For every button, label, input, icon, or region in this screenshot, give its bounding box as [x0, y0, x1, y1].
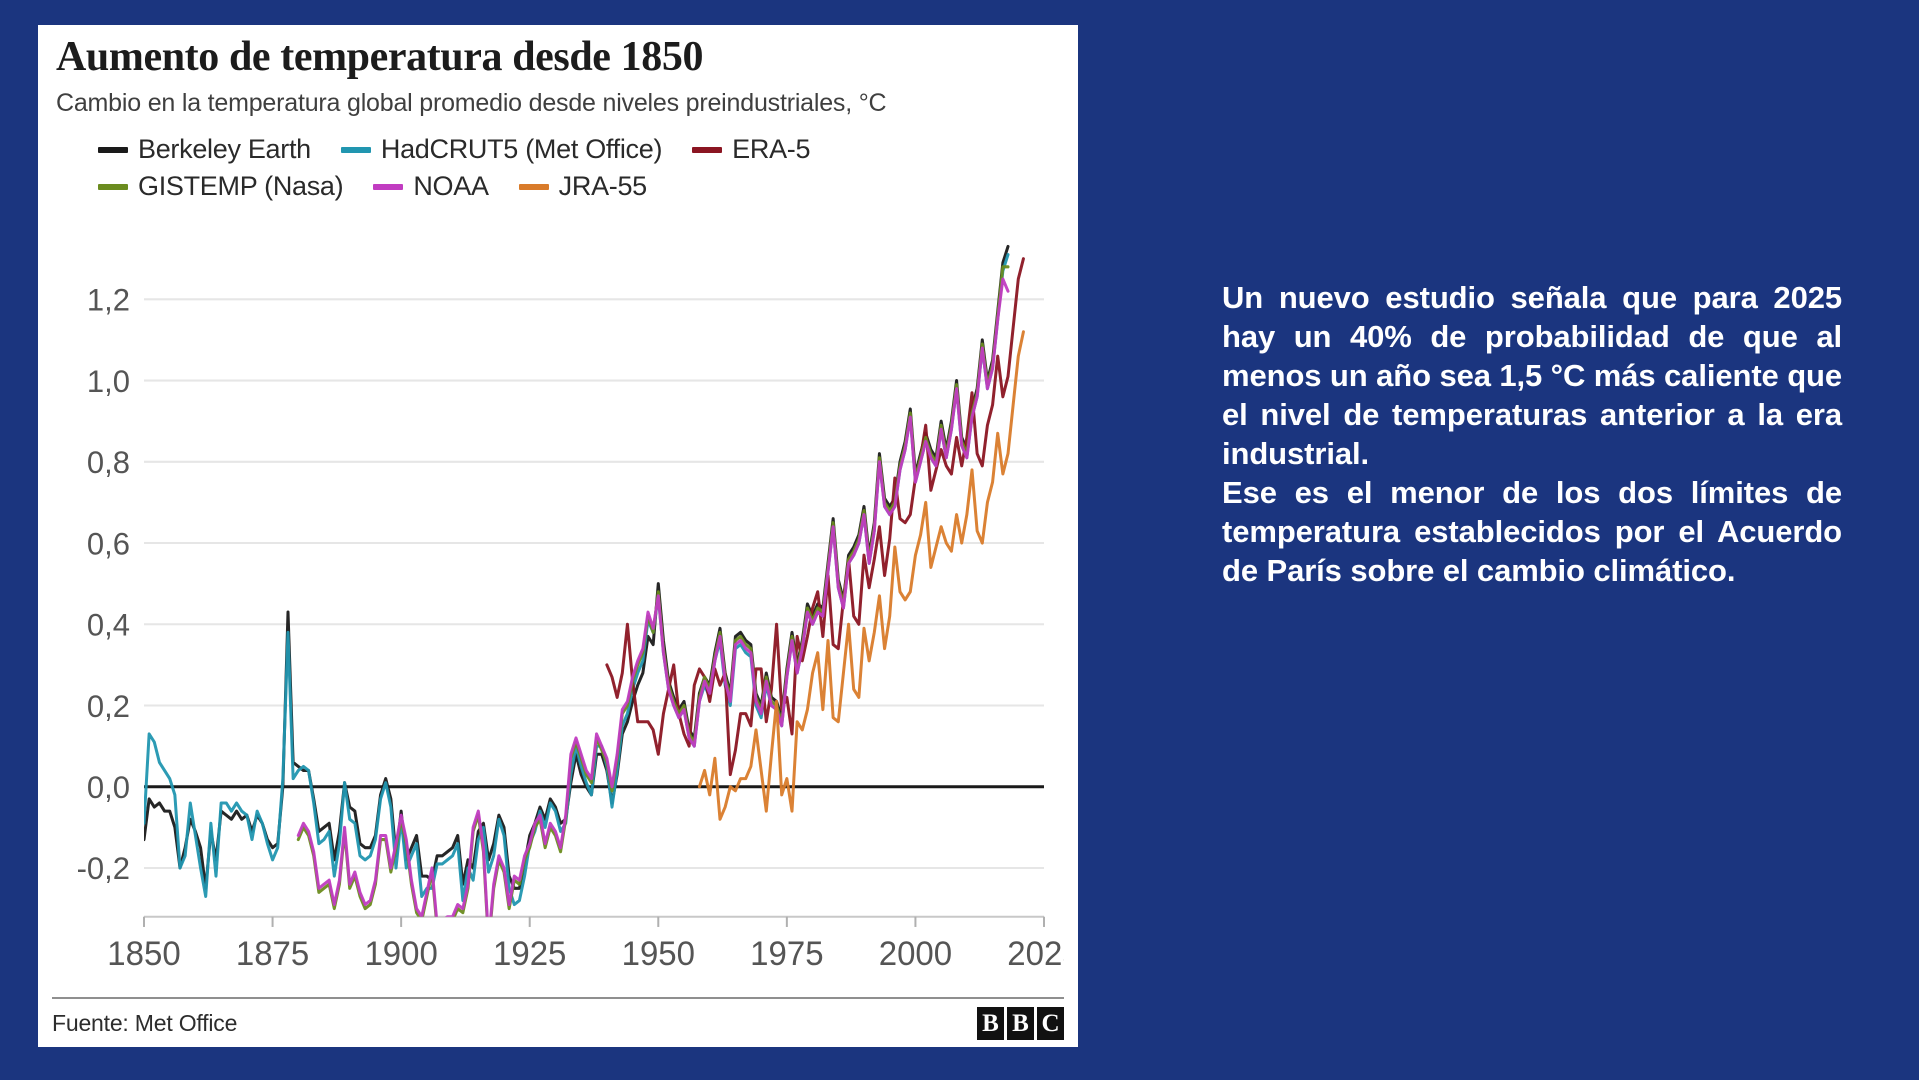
svg-text:1,2: 1,2	[87, 283, 130, 318]
legend-swatch-icon	[519, 184, 549, 190]
legend-label: JRA-55	[559, 171, 647, 202]
chart-footer: Fuente: Met Office B B C	[52, 997, 1064, 1047]
svg-text:1,0: 1,0	[87, 364, 130, 399]
legend-label: GISTEMP (Nasa)	[138, 171, 343, 202]
legend-item-hadcrut5[interactable]: HadCRUT5 (Met Office)	[341, 134, 662, 165]
legend-swatch-icon	[692, 147, 722, 153]
svg-text:1925: 1925	[493, 936, 566, 973]
legend-label: HadCRUT5 (Met Office)	[381, 134, 662, 165]
svg-text:2000: 2000	[879, 936, 952, 973]
legend-item-gistemp[interactable]: GISTEMP (Nasa)	[98, 171, 343, 202]
bbc-letter-1: B	[977, 1007, 1004, 1040]
svg-text:1975: 1975	[750, 936, 823, 973]
bbc-logo: B B C	[977, 1007, 1064, 1040]
temperature-line-chart: -0,20,00,20,40,60,81,01,2185018751900192…	[52, 218, 1064, 997]
legend-swatch-icon	[98, 147, 128, 153]
svg-text:0,2: 0,2	[87, 689, 130, 724]
svg-text:2025: 2025	[1007, 936, 1064, 973]
legend-label: ERA-5	[732, 134, 810, 165]
article-paragraph-2: Ese es el menor de los dos límites de te…	[1222, 473, 1842, 590]
svg-text:0,6: 0,6	[87, 526, 130, 561]
chart-plot-area: -0,20,00,20,40,60,81,01,2185018751900192…	[52, 218, 1064, 997]
chart-legend: Berkeley Earth HadCRUT5 (Met Office) ERA…	[52, 134, 1064, 208]
legend-swatch-icon	[373, 184, 403, 190]
svg-text:1900: 1900	[364, 936, 437, 973]
svg-text:0,4: 0,4	[87, 608, 130, 643]
chart-card: Aumento de temperatura desde 1850 Cambio…	[38, 25, 1078, 1047]
svg-text:1875: 1875	[236, 936, 309, 973]
chart-subtitle: Cambio en la temperatura global promedio…	[52, 89, 1064, 118]
legend-swatch-icon	[98, 184, 128, 190]
article-paragraph-1: Un nuevo estudio señala que para 2025 ha…	[1222, 278, 1842, 473]
legend-row-2: GISTEMP (Nasa) NOAA JRA-55	[98, 171, 1064, 202]
legend-row-1: Berkeley Earth HadCRUT5 (Met Office) ERA…	[98, 134, 1064, 165]
screen-root: Aumento de temperatura desde 1850 Cambio…	[0, 0, 1919, 1080]
chart-title: Aumento de temperatura desde 1850	[52, 35, 1064, 80]
legend-label: Berkeley Earth	[138, 134, 311, 165]
bbc-letter-3: C	[1037, 1007, 1064, 1040]
svg-text:1950: 1950	[622, 936, 695, 973]
legend-item-era-5[interactable]: ERA-5	[692, 134, 810, 165]
svg-text:1850: 1850	[107, 936, 180, 973]
legend-item-noaa[interactable]: NOAA	[373, 171, 488, 202]
source-label: Fuente: Met Office	[52, 1010, 237, 1037]
chart-card-body: Aumento de temperatura desde 1850 Cambio…	[38, 25, 1078, 997]
svg-text:0,8: 0,8	[87, 445, 130, 480]
svg-text:0,0: 0,0	[87, 770, 130, 805]
svg-text:-0,2: -0,2	[77, 851, 130, 886]
legend-swatch-icon	[341, 147, 371, 153]
article-text-panel: Un nuevo estudio señala que para 2025 ha…	[1222, 278, 1842, 590]
bbc-letter-2: B	[1007, 1007, 1034, 1040]
legend-label: NOAA	[413, 171, 488, 202]
legend-item-jra-55[interactable]: JRA-55	[519, 171, 647, 202]
legend-item-berkeley-earth[interactable]: Berkeley Earth	[98, 134, 311, 165]
